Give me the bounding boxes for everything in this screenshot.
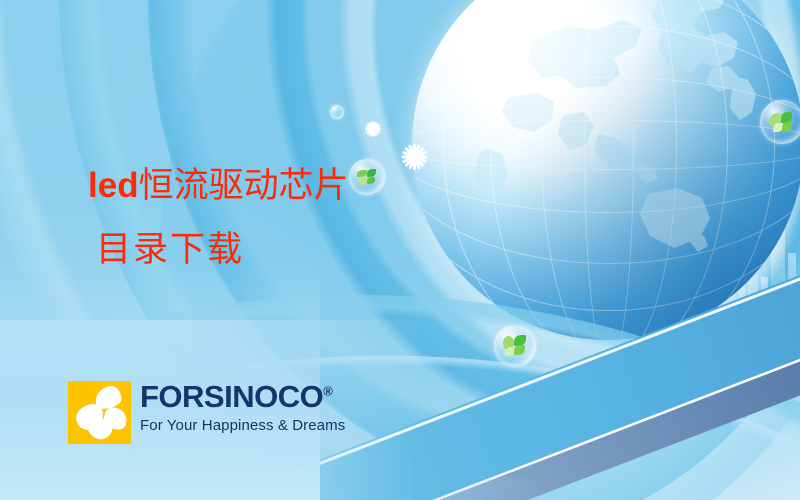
bubble-pinwheel-icon [760,100,800,144]
title-latin-text: led [88,166,139,205]
sparkle-icon [400,143,428,171]
title-cjk-text: 恒流驱动芯片 [139,166,349,205]
sparkle-icon [364,120,382,138]
registered-trademark-icon: ® [323,384,332,399]
bubble-pinwheel-icon [330,105,344,119]
brand-tagline: For Your Happiness & Dreams [140,418,345,433]
brand-name-text: FORSINOCO [140,379,323,414]
pinwheel-flower-icon [68,381,131,444]
poster-canvas: led恒流驱动芯片 目录下载 FORSINOCO® For Your Happi… [0,0,800,500]
bubble-pinwheel-icon [349,159,385,195]
poster-title-line-2: 目录下载 [96,232,244,267]
poster-title-line-1: led恒流驱动芯片 [88,168,349,203]
brand-logo: FORSINOCO® For Your Happiness & Dreams [68,381,345,444]
brand-name: FORSINOCO® [140,381,345,412]
globe-earth-icon [412,0,800,340]
